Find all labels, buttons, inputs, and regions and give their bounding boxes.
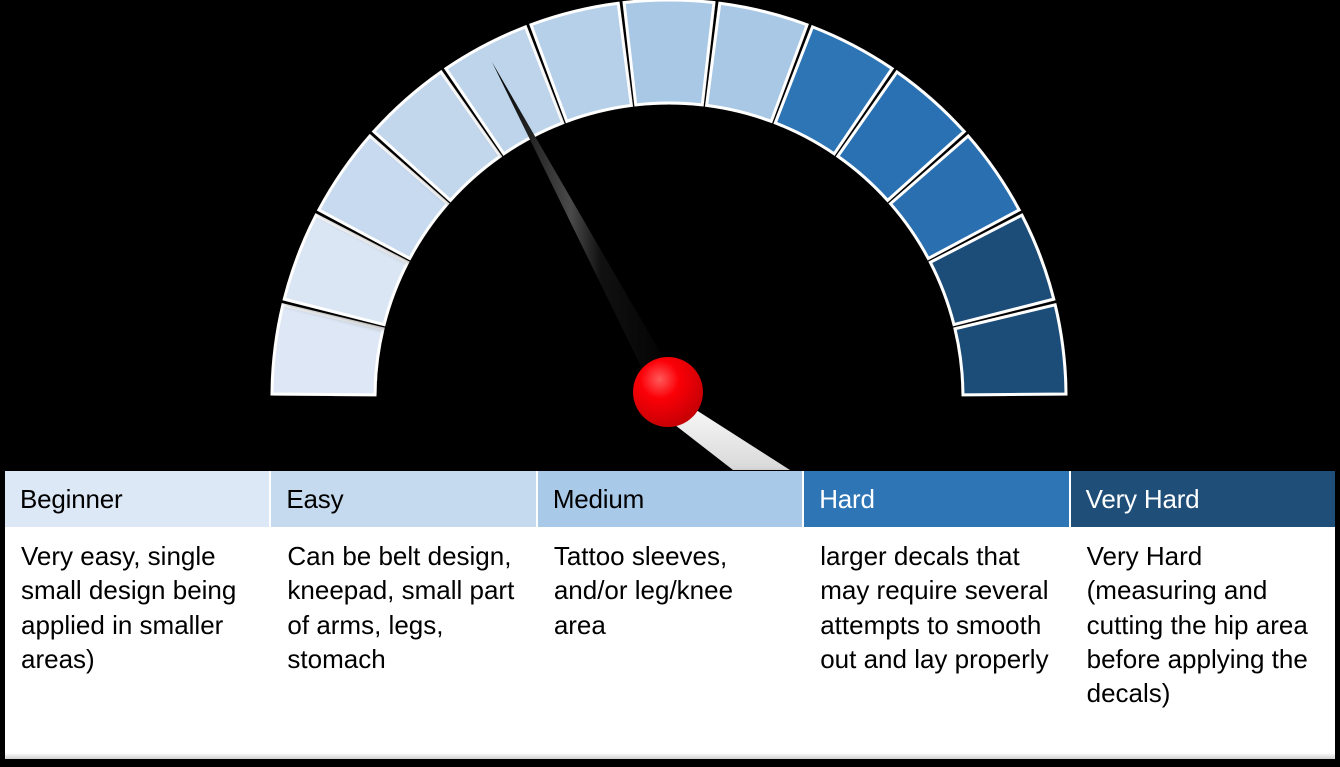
- gauge-segment-7: [624, 0, 714, 105]
- table-body-row: Very easy, single small design being app…: [5, 527, 1335, 759]
- table-header-row: Beginner Easy Medium Hard Very Hard: [5, 471, 1335, 527]
- difficulty-gauge: [0, 0, 1340, 470]
- table-header-hard: Hard: [804, 471, 1070, 527]
- needle-hub: [633, 357, 703, 427]
- table-header-easy: Easy: [271, 471, 537, 527]
- table-cell-easy: Can be belt design, kneepad, small part …: [271, 527, 537, 759]
- gauge-segments: [272, 0, 1066, 395]
- slide-canvas: Beginner Easy Medium Hard Very Hard Very…: [0, 0, 1340, 767]
- gauge-svg: [0, 0, 1340, 470]
- table-cell-hard: larger decals that may require several a…: [804, 527, 1070, 759]
- table-header-medium: Medium: [538, 471, 804, 527]
- table-header-very-hard: Very Hard: [1071, 471, 1335, 527]
- table-header-beginner: Beginner: [5, 471, 271, 527]
- table-cell-beginner: Very easy, single small design being app…: [5, 527, 271, 759]
- difficulty-legend-table: Beginner Easy Medium Hard Very Hard Very…: [5, 471, 1335, 759]
- table-cell-very-hard: Very Hard (measuring and cutting the hip…: [1071, 527, 1335, 759]
- table-cell-medium: Tattoo sleeves, and/or leg/knee area: [538, 527, 804, 759]
